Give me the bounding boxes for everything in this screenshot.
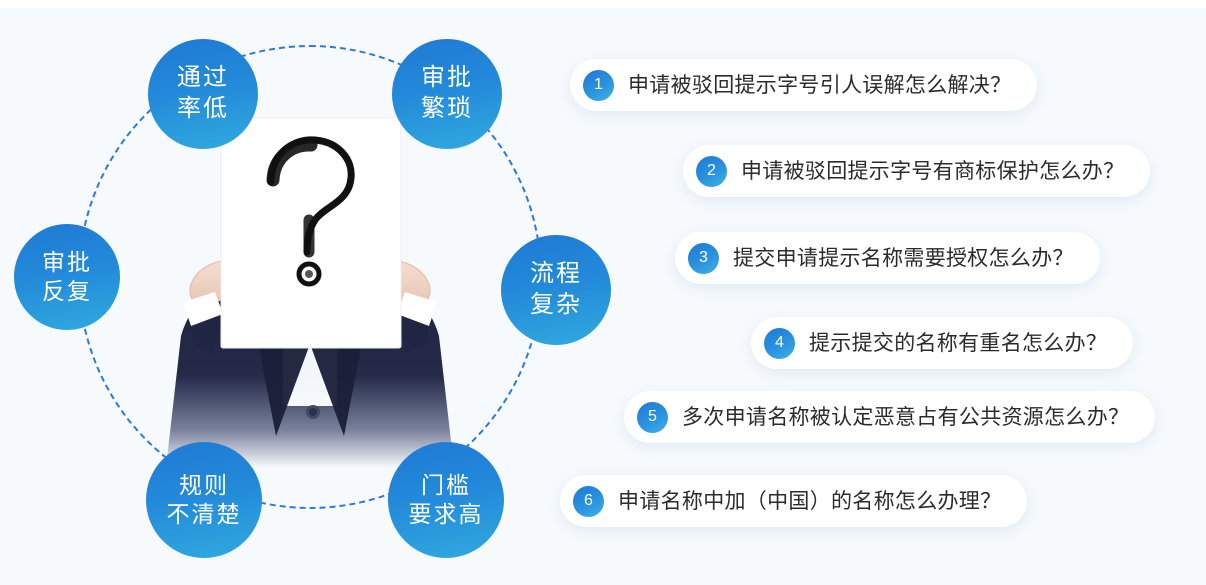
question-list: 1 申请被驳回提示字号引人误解怎么解决？ 2 申请被驳回提示字号有商标保护怎么办… xyxy=(560,0,1206,585)
pain-point-bubble-3[interactable]: 审批 反复 xyxy=(14,224,120,330)
question-number-badge: 5 xyxy=(637,402,668,433)
question-pill-4[interactable]: 4 提示提交的名称有重名怎么办？ xyxy=(751,317,1133,369)
question-pill-6[interactable]: 6 申请名称中加（中国）的名称怎么办理？ xyxy=(560,475,1027,527)
question-number-badge: 2 xyxy=(696,156,727,187)
person-question-mark-photo xyxy=(133,106,487,476)
question-text: 申请被驳回提示字号有商标保护怎么办？ xyxy=(741,161,1124,182)
pain-point-circle-diagram: 通过 率低 审批 繁琐 审批 反复 流程 复杂 规则 不清楚 门槛 要求高 xyxy=(0,0,620,585)
infographic-canvas: 通过 率低 审批 繁琐 审批 反复 流程 复杂 规则 不清楚 门槛 要求高 1 … xyxy=(0,0,1206,585)
question-text: 提示提交的名称有重名怎么办？ xyxy=(809,333,1107,354)
question-pill-3[interactable]: 3 提交申请提示名称需要授权怎么办？ xyxy=(675,232,1100,284)
bubble-line-1: 通过 xyxy=(177,63,229,94)
pain-point-bubble-6[interactable]: 门槛 要求高 xyxy=(388,442,504,558)
bubble-line-2: 不清楚 xyxy=(167,500,242,529)
question-text: 多次申请名称被认定恶意占有公共资源怎么办？ xyxy=(682,407,1129,428)
bubble-line-1: 规则 xyxy=(179,471,229,500)
pain-point-bubble-5[interactable]: 规则 不清楚 xyxy=(146,442,262,558)
question-text: 申请名称中加（中国）的名称怎么办理？ xyxy=(618,491,1001,512)
bubble-line-2: 要求高 xyxy=(409,500,484,529)
question-number-badge: 6 xyxy=(573,486,604,517)
question-number-badge: 3 xyxy=(688,243,719,274)
question-number-badge: 4 xyxy=(764,328,795,359)
bubble-line-1: 审批 xyxy=(421,63,473,94)
bubble-line-1: 门槛 xyxy=(421,471,471,500)
bubble-line-2: 率低 xyxy=(177,94,229,125)
question-pill-1[interactable]: 1 申请被驳回提示字号引人误解怎么解决？ xyxy=(570,59,1037,111)
question-pill-5[interactable]: 5 多次申请名称被认定恶意占有公共资源怎么办？ xyxy=(624,391,1155,443)
bubble-line-1: 审批 xyxy=(42,248,92,277)
question-text: 申请被驳回提示字号引人误解怎么解决？ xyxy=(628,75,1011,96)
question-pill-2[interactable]: 2 申请被驳回提示字号有商标保护怎么办？ xyxy=(683,145,1150,197)
pain-point-bubble-1[interactable]: 通过 率低 xyxy=(148,39,258,149)
bubble-line-2: 反复 xyxy=(42,277,92,306)
question-text: 提交申请提示名称需要授权怎么办？ xyxy=(733,248,1074,269)
pain-point-bubble-2[interactable]: 审批 繁琐 xyxy=(392,39,502,149)
question-number-badge: 1 xyxy=(583,70,614,101)
bubble-line-2: 繁琐 xyxy=(421,94,473,125)
